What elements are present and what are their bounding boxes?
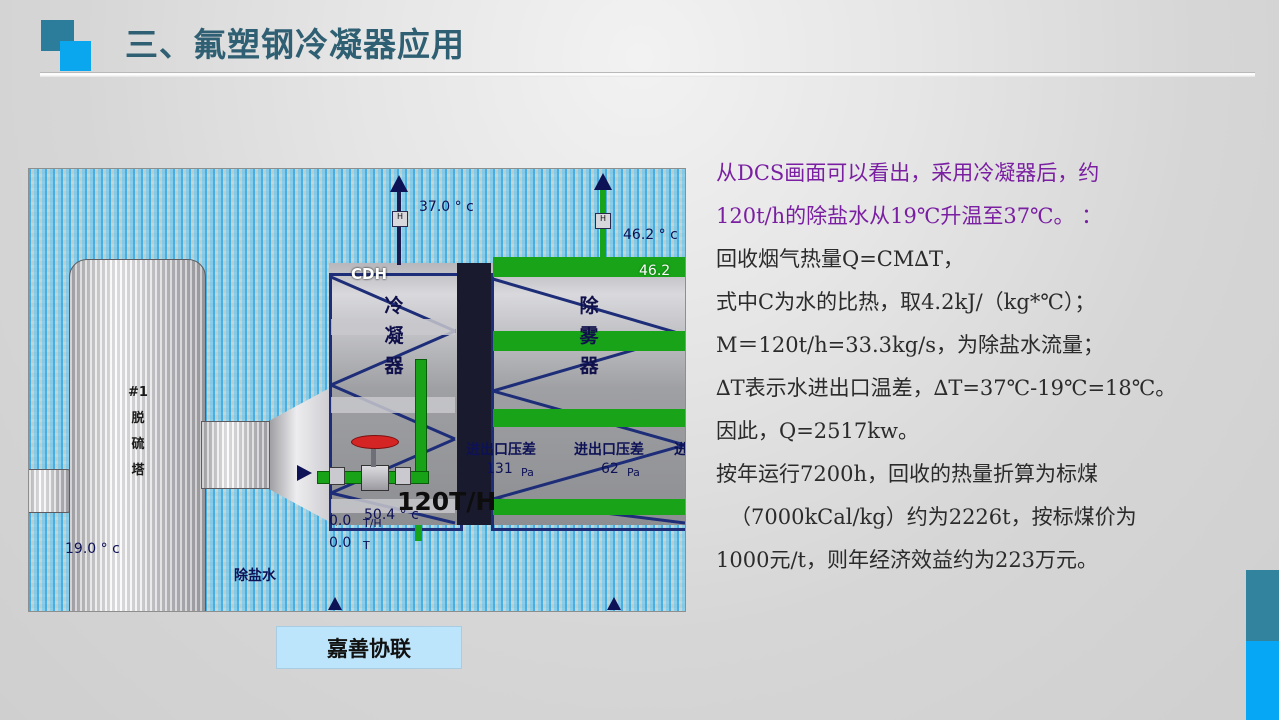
demister-label-char-2: 雾 <box>574 321 604 351</box>
body-line-1: 从DCS画面可以看出，采用冷凝器后，约 <box>716 152 1231 195</box>
tower-name-char-1: 脱 <box>124 406 152 432</box>
body-line-5: M＝120t/h=33.3kg/s，为除盐水流量； <box>716 324 1231 367</box>
valve-flange-left <box>329 467 345 485</box>
temp-condenser-outlet: 37.0 ° c <box>419 199 474 215</box>
body-line-7: 因此，Q=2517kw。 <box>716 410 1231 453</box>
condenser-band-2 <box>331 397 455 413</box>
demister-outlet-arrow-icon <box>594 173 612 190</box>
page-title: 三、氟塑钢冷凝器应用 <box>125 18 465 66</box>
temp-water-inlet: 19.0 ° c <box>65 541 120 557</box>
valve-flange-right <box>395 467 411 485</box>
body-line-2: 120t/h的除盐水从19℃升温至37℃。 ： <box>716 195 1231 238</box>
edge-accent-blue <box>1246 641 1279 720</box>
condenser-label-char-2: 凝 <box>379 321 409 351</box>
condenser-outlet-line <box>397 191 401 265</box>
condenser-outlet-tag: H <box>392 211 408 227</box>
dp-label-3: 进 <box>674 439 686 459</box>
demister-green-band-low <box>493 409 685 427</box>
chamber-separator-bar <box>457 263 491 525</box>
dp-label-2: 进出口压差 <box>574 439 644 459</box>
slide-header: 三、氟塑钢冷凝器应用 <box>0 0 1279 90</box>
demister-outlet-tag: H <box>595 213 611 229</box>
control-valve-body <box>361 465 389 491</box>
body-line-9: （7000kCal/kg）约为2226t，按标煤价为 <box>716 496 1231 539</box>
flow-small-2: 0.0 <box>329 535 351 551</box>
bottom-arrow-left-icon <box>328 597 342 610</box>
left-inlet-pipe <box>28 469 73 513</box>
demister-label: 除 雾 器 <box>574 291 604 381</box>
water-inlet-label: 除盐水 <box>234 565 276 585</box>
condenser-label-char-3: 器 <box>379 351 409 381</box>
horizontal-duct <box>201 421 275 489</box>
condenser-label-char-1: 冷 <box>379 291 409 321</box>
body-line-4: 式中C为水的比热，取4.2kJ/（kg*℃）； <box>716 281 1231 324</box>
tower-name-char-2: 硫 <box>124 432 152 458</box>
body-line-3: 回收烟气热量Q=CM∆T， <box>716 238 1231 281</box>
temp-demister-inline: 46.2 <box>639 263 670 279</box>
body-text-block: 从DCS画面可以看出，采用冷凝器后，约120t/h的除盐水从19℃升温至37℃。… <box>716 152 1231 582</box>
flow-rate-value: 120T/H <box>397 487 496 516</box>
edge-accent-teal <box>1246 570 1279 641</box>
dcs-screenshot-panel: #1 脱 硫 塔 CDH 冷 凝 器 除 雾 器 <box>28 168 686 612</box>
decoration-square-light <box>60 41 91 71</box>
dp-unit-1: Pa <box>521 466 534 479</box>
dp-value-1: 131 <box>486 461 513 477</box>
dp-label-1: 进出口压差 <box>466 439 536 459</box>
flow-small-2-unit: T <box>363 539 370 552</box>
control-valve-actuator-icon <box>351 435 399 449</box>
tower-name-char-3: 塔 <box>124 458 152 484</box>
condenser-outlet-arrow-icon <box>390 175 408 192</box>
demister-label-char-1: 除 <box>574 291 604 321</box>
tower-label: #1 脱 硫 塔 <box>124 380 152 484</box>
condenser-drain-line <box>415 525 422 541</box>
water-inlet-arrow-icon <box>297 465 312 481</box>
demister-green-band-bottom <box>493 499 685 515</box>
tower-tag: #1 <box>124 380 152 406</box>
dp-value-2: 62 <box>601 461 619 477</box>
flow-small-1: 0.0 <box>329 513 351 529</box>
condenser-label: 冷 凝 器 <box>379 291 409 381</box>
valve-riser-pipe <box>415 359 427 481</box>
image-caption: 嘉善协联 <box>276 626 462 669</box>
demister-outlet-line <box>600 189 606 269</box>
flow-small-1-unit: T/H <box>363 517 382 530</box>
bottom-arrow-right-icon <box>607 597 621 610</box>
body-line-6: ∆T表示水进出口温差，∆T=37℃-19℃=18℃。 <box>716 367 1231 410</box>
temp-demister-outlet: 46.2 ° c <box>623 227 678 243</box>
body-line-10: 1000元/t，则年经济效益约为223万元。 <box>716 539 1231 582</box>
cdh-label: CDH <box>351 265 387 283</box>
dp-unit-2: Pa <box>627 466 640 479</box>
header-divider <box>40 72 1255 77</box>
demister-label-char-3: 器 <box>574 351 604 381</box>
body-line-8: 按年运行7200h，回收的热量折算为标煤 <box>716 453 1231 496</box>
expansion-cone <box>269 384 337 526</box>
